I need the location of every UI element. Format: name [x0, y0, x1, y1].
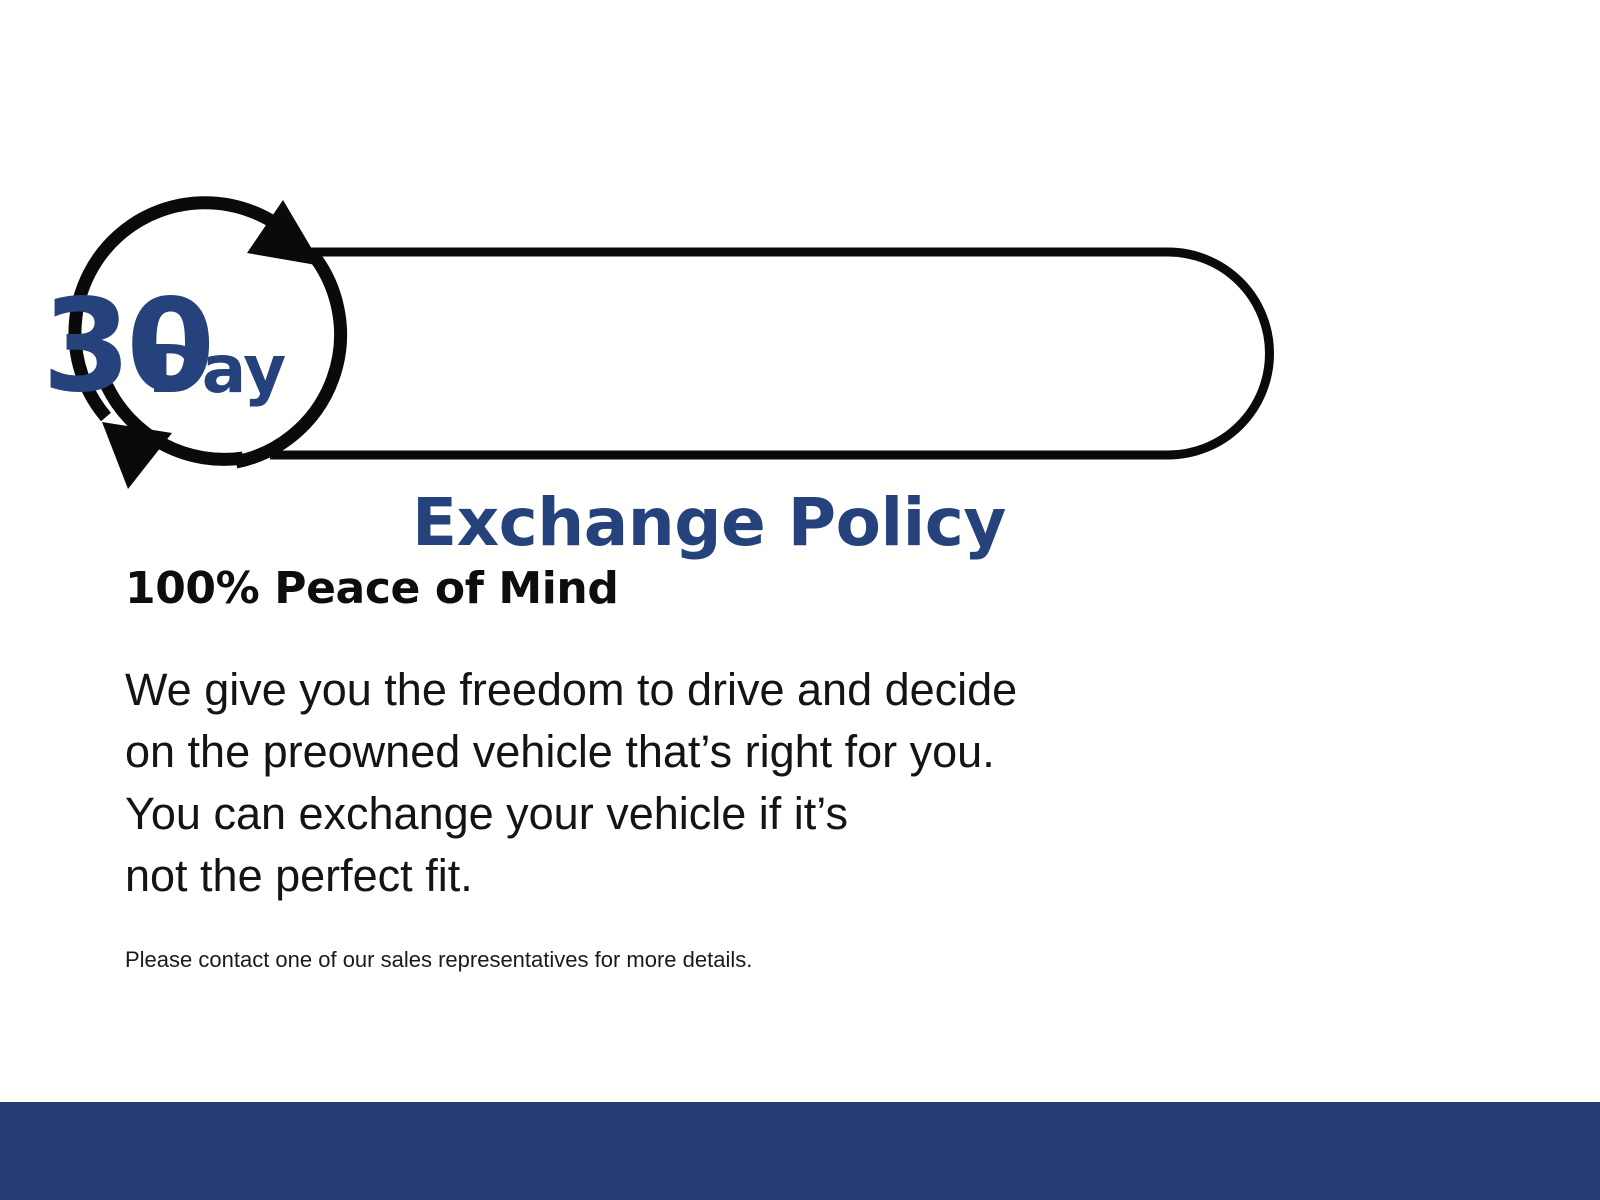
- footer-bar: [0, 1102, 1600, 1200]
- title-pill-outline: [270, 252, 1270, 455]
- badge-graphic: 30 Day: [0, 190, 1320, 500]
- paragraph-line-1: We give you the freedom to drive and dec…: [125, 659, 1425, 721]
- policy-slide: 30 Day Exchange Policy 100% Peace of Min…: [0, 0, 1600, 1200]
- paragraph-line-4: not the perfect fit.: [125, 845, 1425, 907]
- badge-title: Exchange Policy: [412, 490, 1006, 556]
- badge-unit: Day: [148, 331, 285, 408]
- paragraph-line-2: on the preowned vehicle that’s right for…: [125, 721, 1425, 783]
- badge-lockup: 30 Day Exchange Policy: [0, 190, 1320, 500]
- headline: 100% Peace of Mind: [125, 565, 1425, 613]
- fineprint-disclaimer: Please contact one of our sales represen…: [125, 947, 1425, 973]
- content-block: 100% Peace of Mind We give you the freed…: [125, 565, 1425, 973]
- body-paragraph: We give you the freedom to drive and dec…: [125, 659, 1425, 907]
- paragraph-line-3: You can exchange your vehicle if it’s: [125, 783, 1425, 845]
